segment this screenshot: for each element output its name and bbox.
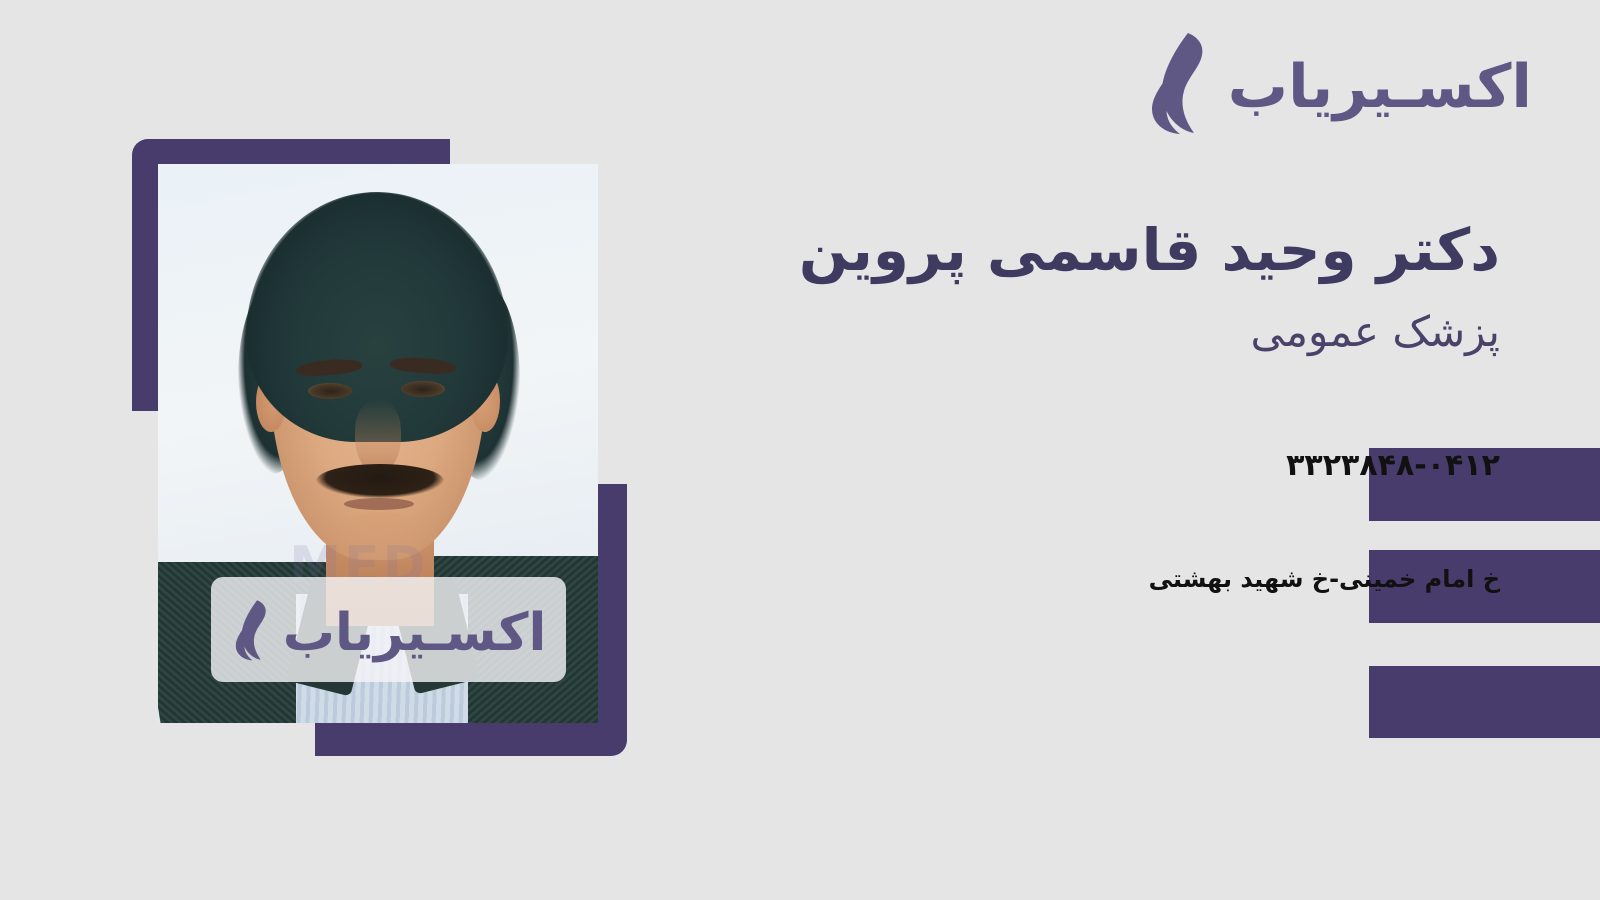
doctor-name: دکتر وحید قاسمی پروین [660, 215, 1500, 287]
phone-number[interactable]: ۳۳۲۳۸۴۸-۰۴۱۲ [1286, 448, 1500, 483]
portrait-mouth [344, 498, 414, 510]
profile-info: دکتر وحید قاسمی پروین پزشک عمومی [660, 215, 1500, 360]
portrait-eye-left [308, 383, 352, 399]
portrait-eye-right [401, 381, 445, 397]
doctor-portrait: MED اکسـیریاب [158, 164, 598, 723]
clinic-address: خ امام خمینی-خ شهید بهشتی [1149, 565, 1500, 593]
flame-droplet-icon [1144, 31, 1218, 135]
brand-logo[interactable]: اکسـیریاب [1144, 28, 1532, 138]
decor-bar-3 [1369, 666, 1600, 738]
watermark-wordmark: اکسـیریاب [283, 607, 547, 659]
profile-card: اکسـیریاب [0, 0, 1600, 900]
watermark-badge: اکسـیریاب [211, 577, 566, 682]
doctor-specialty: پزشک عمومی [660, 305, 1500, 360]
brand-wordmark: اکسـیریاب [1228, 57, 1532, 117]
flame-droplet-icon [231, 599, 275, 661]
portrait-chin [318, 512, 442, 568]
portrait-nose [355, 400, 401, 474]
portrait-mustache [316, 464, 444, 498]
portrait-stage: MED اکسـیریاب [132, 139, 627, 756]
